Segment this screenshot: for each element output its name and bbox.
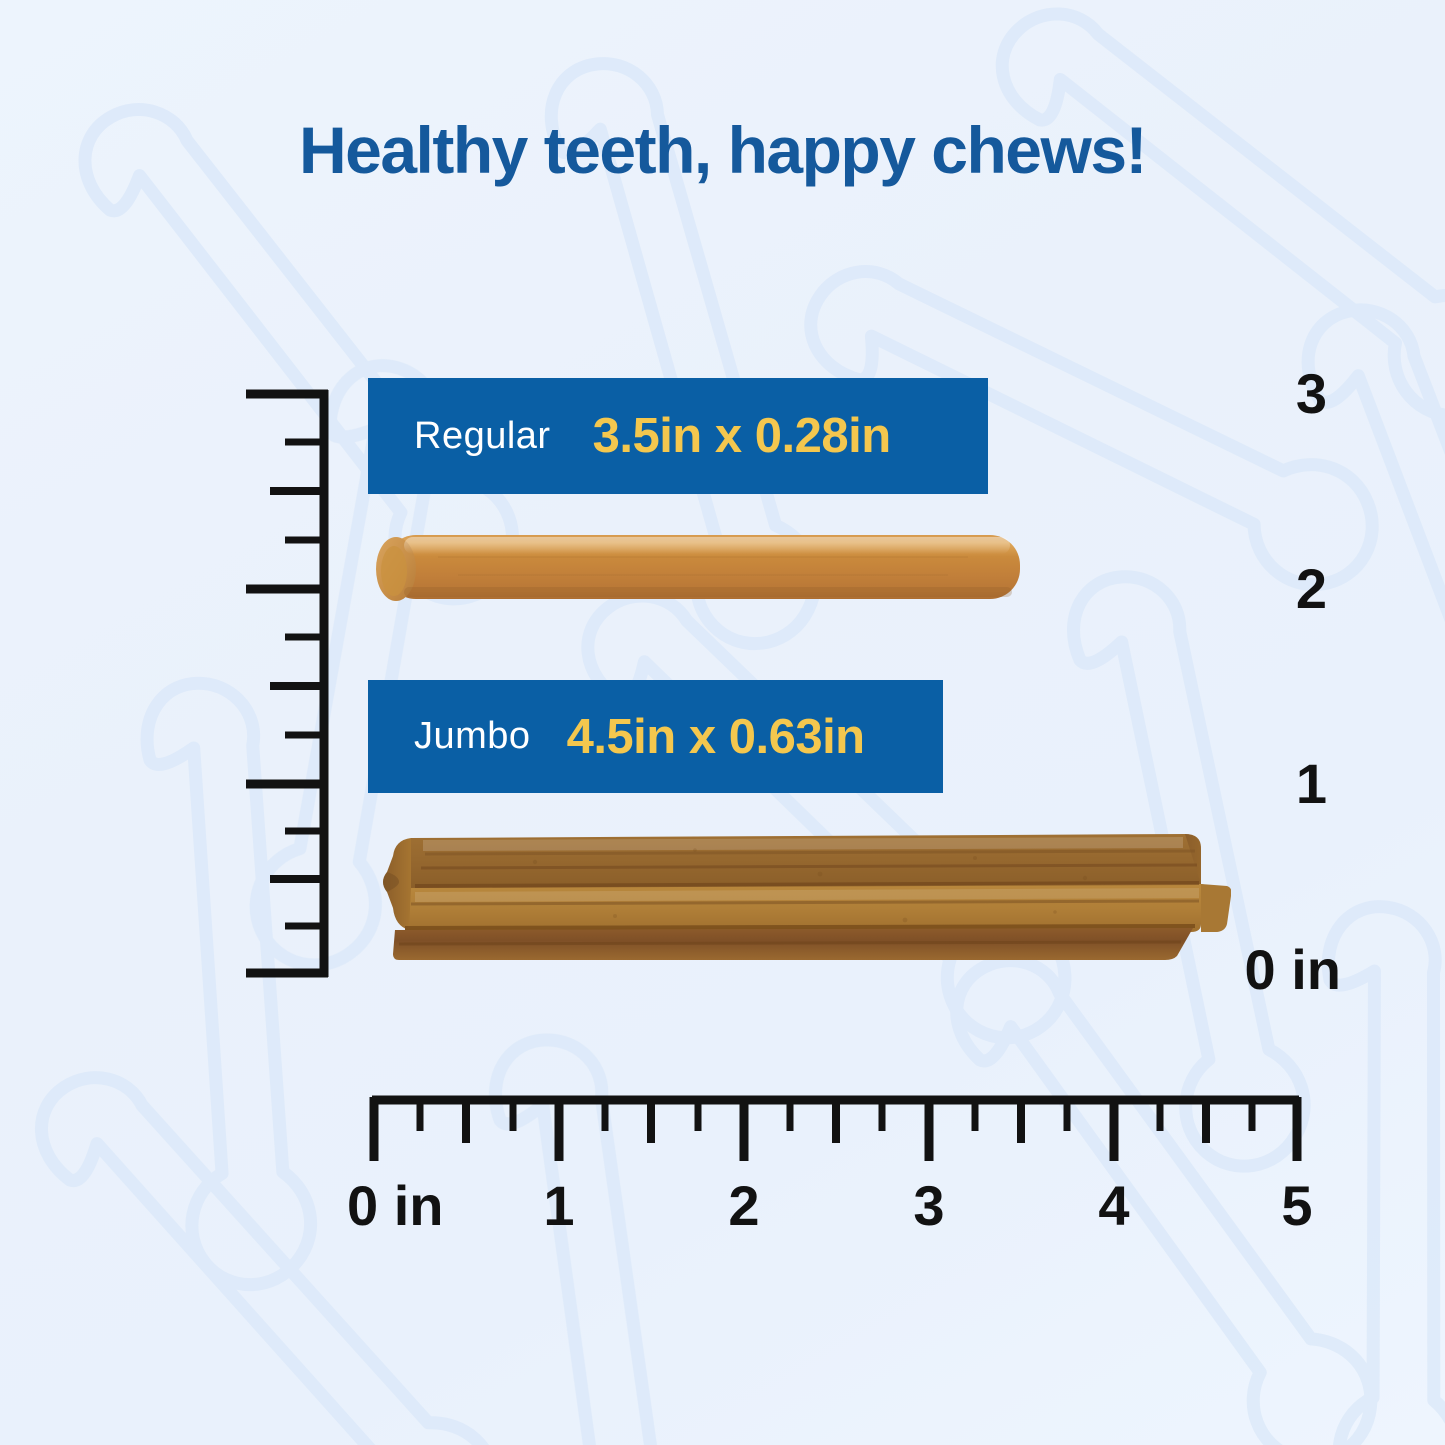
size-bar-jumbo-dimensions: 4.5in x 0.63in bbox=[567, 709, 865, 765]
size-bar-regular: Regular 3.5in x 0.28in bbox=[368, 378, 988, 494]
chew-jumbo-image bbox=[365, 828, 1231, 965]
vruler-label-0: 0 in bbox=[1245, 942, 1341, 998]
horizontal-ruler-labels: 0 in 1 2 3 4 5 bbox=[368, 1178, 1303, 1248]
vruler-label-3: 3 bbox=[1296, 366, 1327, 422]
hruler-label-5: 5 bbox=[1281, 1178, 1312, 1234]
size-bar-jumbo: Jumbo 4.5in x 0.63in bbox=[368, 680, 943, 793]
hruler-label-1: 1 bbox=[543, 1178, 574, 1234]
hruler-label-4: 4 bbox=[1098, 1178, 1129, 1234]
size-bar-regular-name: Regular bbox=[414, 415, 551, 458]
vertical-ruler bbox=[128, 385, 353, 995]
hruler-label-3: 3 bbox=[913, 1178, 944, 1234]
vruler-label-1: 1 bbox=[1296, 756, 1327, 812]
chew-regular-image bbox=[368, 531, 1036, 603]
product-size-infographic: Healthy teeth, happy chews! 3 2 1 0 in R… bbox=[0, 0, 1445, 1445]
horizontal-ruler bbox=[368, 1095, 1303, 1170]
page-title: Healthy teeth, happy chews! bbox=[0, 112, 1445, 188]
hruler-label-0: 0 in bbox=[347, 1178, 443, 1234]
hruler-label-2: 2 bbox=[728, 1178, 759, 1234]
size-bar-regular-dimensions: 3.5in x 0.28in bbox=[593, 408, 891, 464]
size-bar-jumbo-name: Jumbo bbox=[414, 715, 531, 758]
vruler-label-2: 2 bbox=[1296, 561, 1327, 617]
